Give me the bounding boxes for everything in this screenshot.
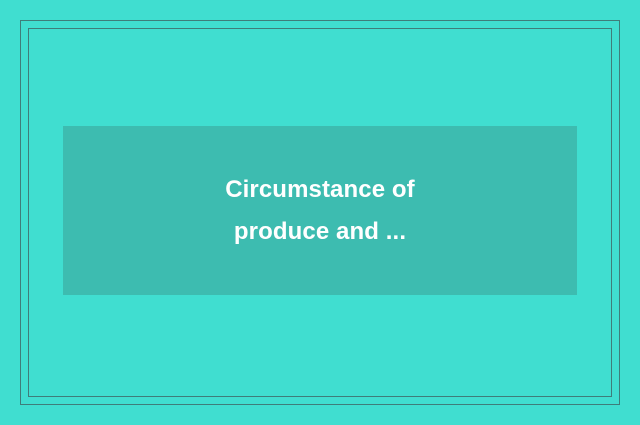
placeholder-card: Circumstance of produce and ... [0,0,640,425]
panel-title: Circumstance of produce and ... [63,169,577,253]
content-panel: Circumstance of produce and ... [63,126,577,295]
